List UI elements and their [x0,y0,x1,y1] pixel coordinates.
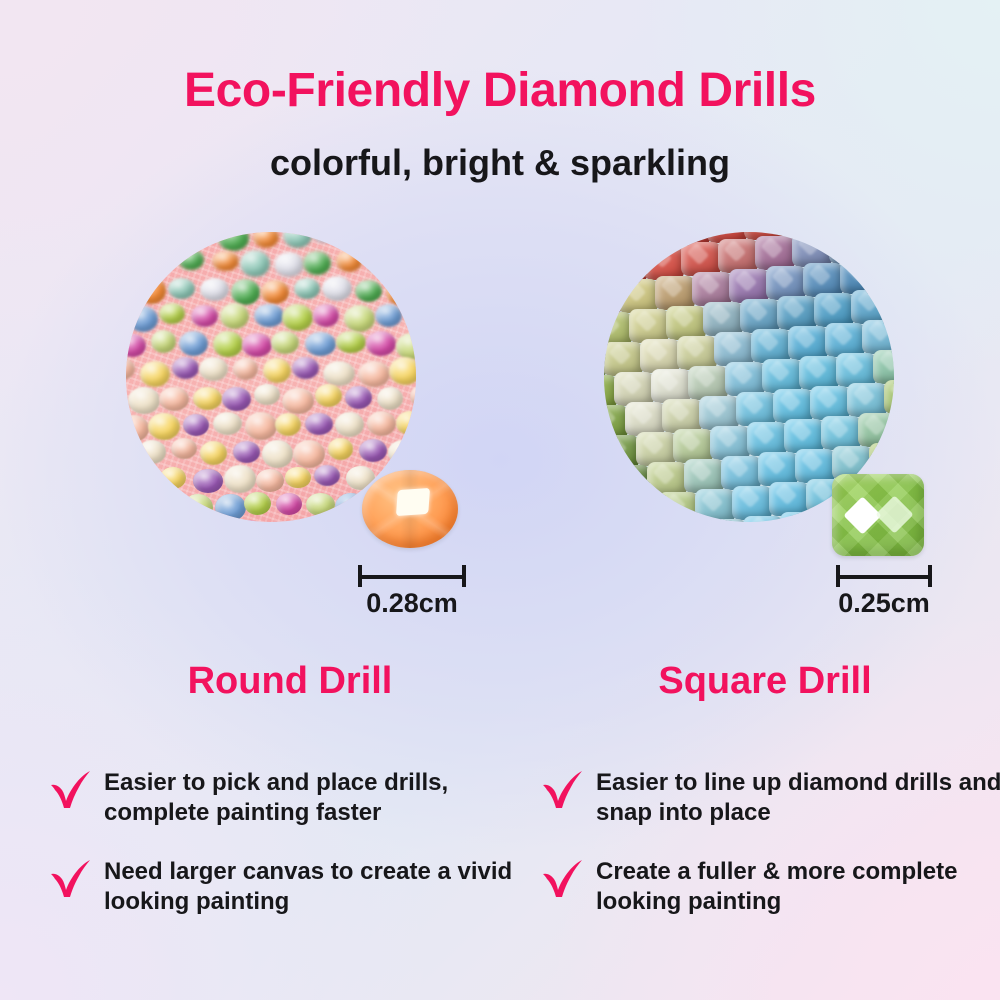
square-drill-bead [714,332,754,366]
square-drill-bead [607,249,647,283]
square-drill-bead [673,429,713,463]
measure-cap-right [928,565,932,587]
round-drill-bead [294,278,320,299]
round-drill-bead [355,280,382,302]
round-drill-bead [152,494,181,517]
square-drill-bead [732,486,772,520]
square-drill-bead [743,516,783,522]
round-drill-bead [276,493,302,515]
round-drill-bead [303,251,331,275]
square-drill-bead [788,326,828,360]
list-item-label: Easier to line up diamond drills and sna… [596,765,1000,828]
square-drill-bead [873,350,894,384]
round-drill-bead [336,331,365,354]
square-drill-bead [625,402,665,436]
square-drill-bead [810,386,850,420]
check-icon [48,767,94,813]
round-drill-heading: Round Drill [50,660,530,703]
round-drill-bead [396,411,416,435]
square-drill-bead [610,465,650,499]
square-drill-bead [773,389,813,423]
round-drill-bead [366,331,396,356]
round-drill-measure-label: 0.28cm [292,588,532,619]
orange-round-drill-closeup [362,470,458,548]
square-drill-bead [795,449,835,483]
list-item: Create a fuller & more complete looking … [540,854,1000,917]
square-drill-bead [814,293,854,327]
round-drill-bead [305,332,336,356]
round-drill-bead [159,387,189,411]
round-drill-bead [191,305,218,326]
page-subtitle: colorful, bright & sparkling [0,142,1000,184]
list-item: Need larger canvas to create a vivid loo… [48,854,518,917]
square-drill-bead [829,232,869,264]
round-drill-bead [389,357,416,385]
square-drill-bead [651,369,691,403]
green-square-drill-closeup [832,474,924,556]
round-drill-bead [128,387,160,414]
round-drill-bead [148,250,175,271]
square-drill-bead [647,462,687,496]
round-drill-bead [322,276,352,301]
round-drill-bead [244,492,271,515]
round-drill-bead [254,384,280,404]
check-icon [540,767,586,813]
square-drill-bead [769,482,809,516]
round-drill-bead [233,358,259,380]
square-drill-bead [699,396,739,430]
round-drill-bead [245,412,277,439]
round-drill-bead [377,387,403,410]
square-drill-bead [836,353,876,387]
round-drill-bead [151,330,176,352]
square-drill-bead [677,336,717,370]
list-item-label: Easier to pick and place drills, complet… [104,765,518,828]
round-drill-bead [396,250,416,273]
highlight-glint [396,488,430,516]
square-drill-bead [799,356,839,390]
square-drill-bead [662,399,702,433]
square-drill-bead [762,359,802,393]
round-drill-bead [263,358,291,383]
square-drill-bead [618,279,658,313]
round-drill-bead [137,277,166,303]
square-drill-bead [703,302,743,336]
round-drill-bead [160,467,186,490]
square-drill-bead [825,323,865,357]
square-drill-bead [888,286,894,320]
square-drill-bead [758,452,798,486]
round-drill-bead [388,440,416,465]
square-drill-bead [718,239,758,273]
square-drill-heading: Square Drill [525,660,1000,703]
list-item: Easier to line up diamond drills and sna… [540,765,1000,828]
square-drill-bead [803,263,843,297]
square-drill-bead [692,272,732,306]
round-drill-bead [171,438,197,459]
square-drill-bead [766,266,806,300]
round-drill-bead [128,306,158,331]
square-drill-bead [736,392,776,426]
round-drill-bead [328,438,354,460]
square-drill-bead [869,443,894,477]
square-drill-bead [740,299,780,333]
round-drill-bead [271,331,299,353]
round-drill-bead [293,440,325,468]
round-drill-bead [262,440,294,468]
square-drill-bead [721,456,761,490]
square-drill-bead [644,246,684,280]
measure-line [836,575,932,579]
round-drill-bead [222,387,251,411]
square-drill-bead [847,383,887,417]
square-drill-bead [747,422,787,456]
square-drill-bead [666,306,706,340]
square-drill-benefits: Easier to line up diamond drills and sna… [540,765,1000,943]
square-drill-measure-label: 0.25cm [764,588,1000,619]
round-drill-bead [305,413,333,435]
square-drill-bead [840,260,880,294]
square-drill-bead [629,309,669,343]
square-drill-bead [621,495,661,522]
round-drill-bead [336,250,362,272]
round-drill-bead [386,278,416,306]
square-drill-bead [729,269,769,303]
round-drill-bead [254,304,283,327]
square-drill-bead [684,459,724,493]
measure-cap-right [462,565,466,587]
square-drill-bead [858,413,894,447]
round-drill-bead [306,493,335,516]
square-drill-bead [655,276,695,310]
square-drill-bead [792,233,832,267]
round-drill-bead [242,333,272,356]
round-drill-bead [215,494,245,521]
round-drill-bead [168,278,195,299]
square-drill-bead [751,329,791,363]
round-drill-bead [274,252,304,278]
round-drill-bead [231,279,260,304]
round-drill-bead [200,441,227,465]
page-title: Eco-Friendly Diamond Drills [0,63,1000,118]
round-drill-bead [224,465,256,492]
square-drill-bead [777,296,817,330]
check-icon [540,856,586,902]
round-drill-bead [358,361,390,388]
square-drill-bead [877,256,894,290]
round-drill-bead [200,278,229,301]
round-drill-bead [375,304,402,327]
round-drill-bead [213,331,242,357]
square-drill-bead [784,419,824,453]
square-drill-bead [725,362,765,396]
square-drill-bead [862,320,894,354]
round-drill-bead [240,250,270,277]
square-drill-bead [884,380,894,414]
round-drill-bead [285,467,310,488]
list-item: Easier to pick and place drills, complet… [48,765,518,828]
square-drill-bead [851,290,891,324]
round-drill-bead [199,357,227,381]
square-drill-bead [710,426,750,460]
measure-line [358,575,466,579]
square-drill-bead [755,236,795,270]
square-drill-bead [658,492,698,522]
round-drill-bead [292,357,318,379]
round-drill-bead [148,413,180,440]
square-drill-bead [640,339,680,373]
round-drill-bead [213,412,242,435]
round-drill-benefits: Easier to pick and place drills, complet… [48,765,518,943]
round-drill-bead [367,250,396,274]
square-drill-bead [695,489,735,522]
round-drill-bead [193,469,224,493]
round-drill-bead [256,469,284,492]
square-drill-bead [604,435,639,469]
square-drill-bead [688,366,728,400]
square-drill-measure-bar [836,565,932,587]
round-drill-bead [323,361,354,387]
round-drill-bead [396,333,416,360]
check-icon [48,856,94,902]
round-drill-measure-bar [358,565,466,587]
square-drill-bead [614,372,654,406]
square-drill-bead [821,416,861,450]
round-drill-bead [183,494,213,521]
round-drill-bead [282,388,314,415]
infographic-poster: Eco-Friendly Diamond Drills colorful, br… [0,0,1000,1000]
square-drill-bead [681,242,721,276]
square-drill-bead [604,342,643,376]
list-item-label: Need larger canvas to create a vivid loo… [104,854,518,917]
round-drill-bead [140,361,171,387]
round-drill-bead [313,304,338,326]
round-drill-bead [261,280,289,304]
square-drill-bead [706,519,746,522]
square-drill-bead [604,312,632,346]
list-item-label: Create a fuller & more complete looking … [596,854,1000,917]
square-drill-bead [780,512,820,522]
square-drill-bead [636,432,676,466]
round-drill-bead [212,251,238,272]
